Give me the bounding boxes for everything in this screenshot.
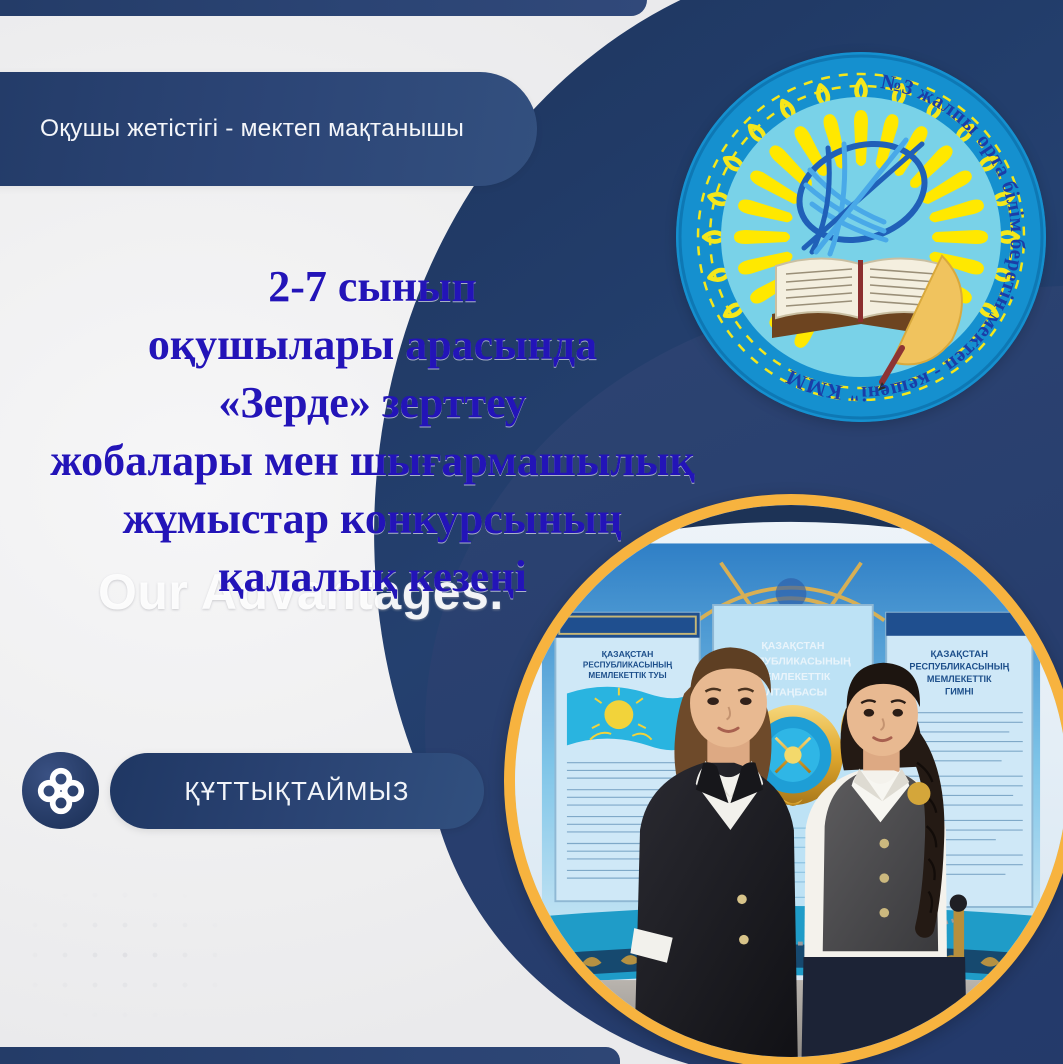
svg-text:МЕМЛЕКЕТТІК ТУЫ: МЕМЛЕКЕТТІК ТУЫ [588, 671, 666, 680]
title-line-2: оқушылары арасында [0, 316, 745, 374]
title-line-1: 2-7 сынып [0, 258, 745, 316]
quatrefoil-rings-icon [35, 765, 87, 817]
top-accent-bar [0, 0, 647, 16]
svg-text:ҚАЗАҚСТАН: ҚАЗАҚСТАН [602, 649, 654, 659]
award-photo-circle: ҚАЗАҚСТАН РЕСПУБЛИКАСЫНЫҢ МЕМЛЕКЕТТІК ТУ… [504, 494, 1063, 1064]
award-photo-image: ҚАЗАҚСТАН РЕСПУБЛИКАСЫНЫҢ МЕМЛЕКЕТТІК ТУ… [515, 505, 1063, 1057]
brand-logo [22, 752, 99, 829]
title-line-4: жобалары мен шығармашылық [0, 432, 745, 490]
header-banner-label: Оқушы жетістігі - мектеп мақтанышы [40, 115, 464, 143]
title-line-3: «Зерде» зерттеу [0, 374, 745, 432]
svg-text:ГИМНІ: ГИМНІ [945, 686, 973, 696]
svg-text:РЕСПУБЛИКАСЫНЫҢ: РЕСПУБЛИКАСЫНЫҢ [583, 661, 672, 670]
congratulations-button-label: ҚҰТТЫҚТАЙМЫЗ [184, 776, 409, 807]
halftone-dots-decor-secondary [20, 880, 280, 1030]
svg-text:МЕМЛЕКЕТТІК: МЕМЛЕКЕТТІК [927, 674, 992, 684]
svg-text:ҚАЗАҚСТАН: ҚАЗАҚСТАН [931, 649, 989, 660]
school-emblem: №3 жалпы орта білім беретін мектеп - кеш… [676, 52, 1046, 422]
congratulations-button[interactable]: ҚҰТТЫҚТАЙМЫЗ [110, 753, 484, 829]
poster-canvas: Оқушы жетістігі - мектеп мақтанышы 2-7 с… [0, 0, 1063, 1064]
svg-text:ҚАЗАҚСТАН: ҚАЗАҚСТАН [761, 640, 824, 652]
svg-text:РЕСПУБЛИКАСЫНЫҢ: РЕСПУБЛИКАСЫНЫҢ [909, 661, 1009, 671]
header-banner: Оқушы жетістігі - мектеп мақтанышы [0, 72, 537, 186]
